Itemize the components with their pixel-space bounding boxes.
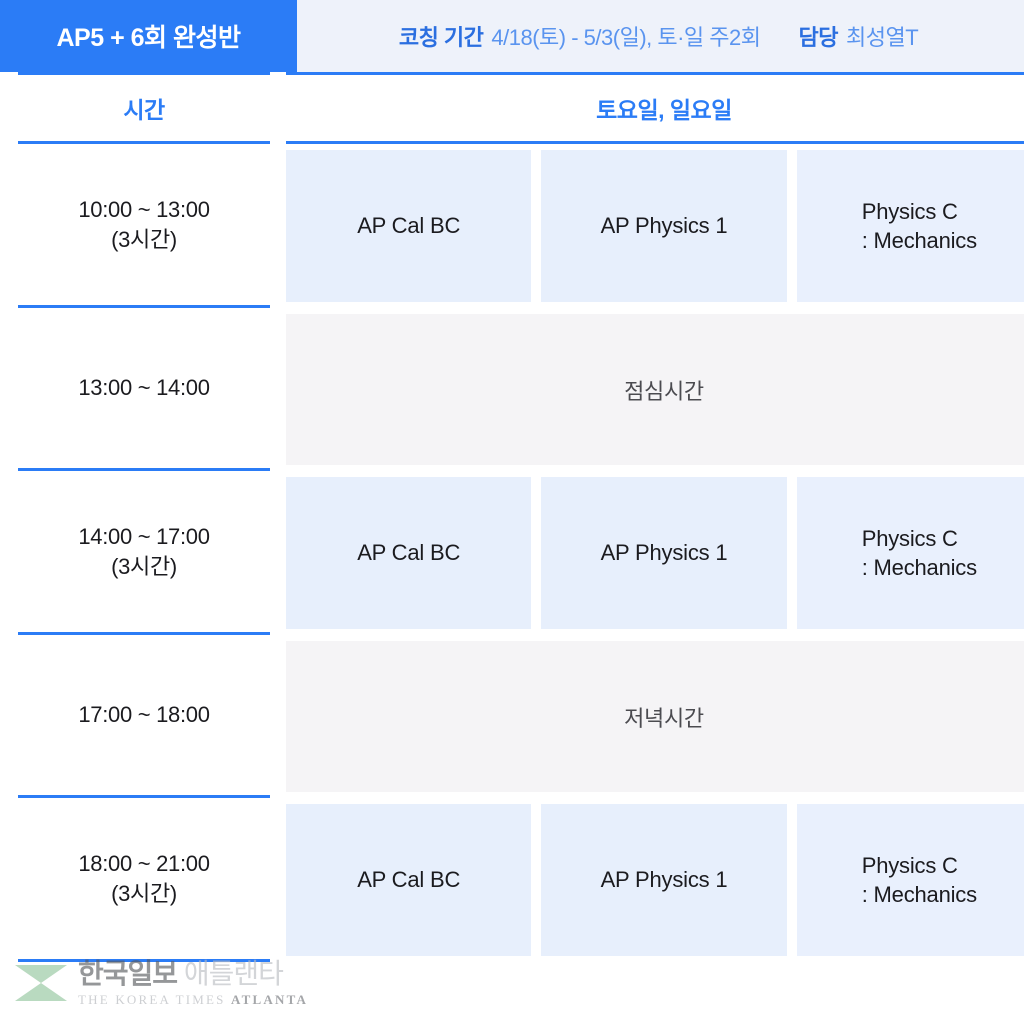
subject-cell-text: AP Cal BC xyxy=(357,211,460,240)
subject-line-1: Physics C xyxy=(862,524,977,553)
subject-line-2: : Mechanics xyxy=(862,880,977,909)
subject-cell-text: AP Physics 1 xyxy=(601,538,728,567)
coaching-period-value: 4/18(토) - 5/3(일), 토·일 주2회 xyxy=(491,20,760,52)
table-row: 10:00 ~ 13:00(3시간)AP Cal BCAP Physics 1P… xyxy=(0,144,1024,308)
schedule-table: 시간 토요일, 일요일 10:00 ~ 13:00(3시간)AP Cal BCA… xyxy=(0,72,1024,1024)
break-cell: 저녁시간 xyxy=(286,641,1024,792)
subject-cell-text: Physics C: Mechanics xyxy=(862,524,977,583)
time-duration: (3시간) xyxy=(111,879,177,908)
subject-line-1: Physics C xyxy=(862,851,977,880)
subject-cell[interactable]: AP Physics 1 xyxy=(541,804,786,956)
subject-cell[interactable]: Physics C: Mechanics xyxy=(797,804,1024,956)
subject-area: AP Cal BCAP Physics 1Physics C: Mechanic… xyxy=(286,798,1024,962)
column-header-days: 토요일, 일요일 xyxy=(286,72,1024,144)
subject-cell[interactable]: AP Cal BC xyxy=(286,804,531,956)
subject-cell-text: Physics C: Mechanics xyxy=(862,851,977,910)
time-range: 14:00 ~ 17:00 xyxy=(78,522,209,551)
table-row: 14:00 ~ 17:00(3시간)AP Cal BCAP Physics 1P… xyxy=(0,471,1024,635)
time-range: 18:00 ~ 21:00 xyxy=(78,849,209,878)
course-title-badge: AP5 + 6회 완성반 xyxy=(0,0,297,72)
subject-cell-text: AP Physics 1 xyxy=(601,211,728,240)
subject-cell[interactable]: AP Cal BC xyxy=(286,477,531,629)
time-cell: 17:00 ~ 18:00 xyxy=(18,635,270,798)
table-row: 13:00 ~ 14:00점심시간 xyxy=(0,308,1024,471)
instructor: 담당 최성열T xyxy=(799,20,919,52)
time-range: 13:00 ~ 14:00 xyxy=(78,373,209,402)
time-cell: 10:00 ~ 13:00(3시간) xyxy=(18,144,270,308)
time-duration: (3시간) xyxy=(111,225,177,254)
subject-cell[interactable]: Physics C: Mechanics xyxy=(797,477,1024,629)
subject-line-1: AP Physics 1 xyxy=(601,211,728,240)
watermark-korean: 한국일보 애틀랜타 xyxy=(78,960,308,988)
subject-line-1: AP Cal BC xyxy=(357,538,460,567)
subject-line-2: : Mechanics xyxy=(862,226,977,255)
watermark-text: 한국일보 애틀랜타 THE KOREA TIMES ATLANTA xyxy=(78,960,308,1006)
subject-cell-text: AP Physics 1 xyxy=(601,865,728,894)
subject-line-1: AP Physics 1 xyxy=(601,865,728,894)
watermark-english-bold: ATLANTA xyxy=(231,992,308,1007)
subject-cell-text: AP Cal BC xyxy=(357,865,460,894)
korea-times-logo-icon xyxy=(14,964,68,1002)
time-cell: 14:00 ~ 17:00(3시간) xyxy=(18,471,270,635)
subject-line-2: : Mechanics xyxy=(862,553,977,582)
column-header-time: 시간 xyxy=(18,72,270,144)
table-row: 17:00 ~ 18:00저녁시간 xyxy=(0,635,1024,798)
coaching-period: 코칭 기간 4/18(토) - 5/3(일), 토·일 주2회 xyxy=(399,20,761,52)
instructor-label: 담당 xyxy=(799,20,838,52)
table-row: 18:00 ~ 21:00(3시간)AP Cal BCAP Physics 1P… xyxy=(0,798,1024,962)
subject-cell-text: AP Cal BC xyxy=(357,538,460,567)
subject-area: AP Cal BCAP Physics 1Physics C: Mechanic… xyxy=(286,144,1024,308)
time-range: 17:00 ~ 18:00 xyxy=(78,700,209,729)
time-range: 10:00 ~ 13:00 xyxy=(78,195,209,224)
break-cell: 점심시간 xyxy=(286,314,1024,465)
break-area: 점심시간 xyxy=(286,308,1024,471)
watermark-korean-bold: 한국일보 xyxy=(78,958,177,989)
subject-cell[interactable]: AP Cal BC xyxy=(286,150,531,302)
table-header-row: 시간 토요일, 일요일 xyxy=(0,72,1024,144)
watermark-english: THE KOREA TIMES ATLANTA xyxy=(78,993,308,1006)
subject-line-1: AP Physics 1 xyxy=(601,538,728,567)
instructor-value: 최성열T xyxy=(846,20,918,52)
time-cell: 18:00 ~ 21:00(3시간) xyxy=(18,798,270,962)
watermark-english-light: THE KOREA TIMES xyxy=(78,992,231,1007)
coaching-period-label: 코칭 기간 xyxy=(399,20,484,52)
subject-line-1: AP Cal BC xyxy=(357,865,460,894)
subject-cell[interactable]: AP Physics 1 xyxy=(541,477,786,629)
page-header: AP5 + 6회 완성반 코칭 기간 4/18(토) - 5/3(일), 토·일… xyxy=(0,0,1024,72)
subject-cell-text: Physics C: Mechanics xyxy=(862,197,977,256)
watermark-korean-light: 애틀랜타 xyxy=(177,958,283,989)
time-duration: (3시간) xyxy=(111,552,177,581)
table-body: 10:00 ~ 13:00(3시간)AP Cal BCAP Physics 1P… xyxy=(0,144,1024,962)
subject-area: AP Cal BCAP Physics 1Physics C: Mechanic… xyxy=(286,471,1024,635)
break-area: 저녁시간 xyxy=(286,635,1024,798)
watermark: 한국일보 애틀랜타 THE KOREA TIMES ATLANTA xyxy=(14,960,308,1006)
course-meta-bar: 코칭 기간 4/18(토) - 5/3(일), 토·일 주2회 담당 최성열T xyxy=(297,0,1024,72)
time-cell: 13:00 ~ 14:00 xyxy=(18,308,270,471)
subject-cell[interactable]: AP Physics 1 xyxy=(541,150,786,302)
subject-line-1: AP Cal BC xyxy=(357,211,460,240)
subject-line-1: Physics C xyxy=(862,197,977,226)
subject-cell[interactable]: Physics C: Mechanics xyxy=(797,150,1024,302)
